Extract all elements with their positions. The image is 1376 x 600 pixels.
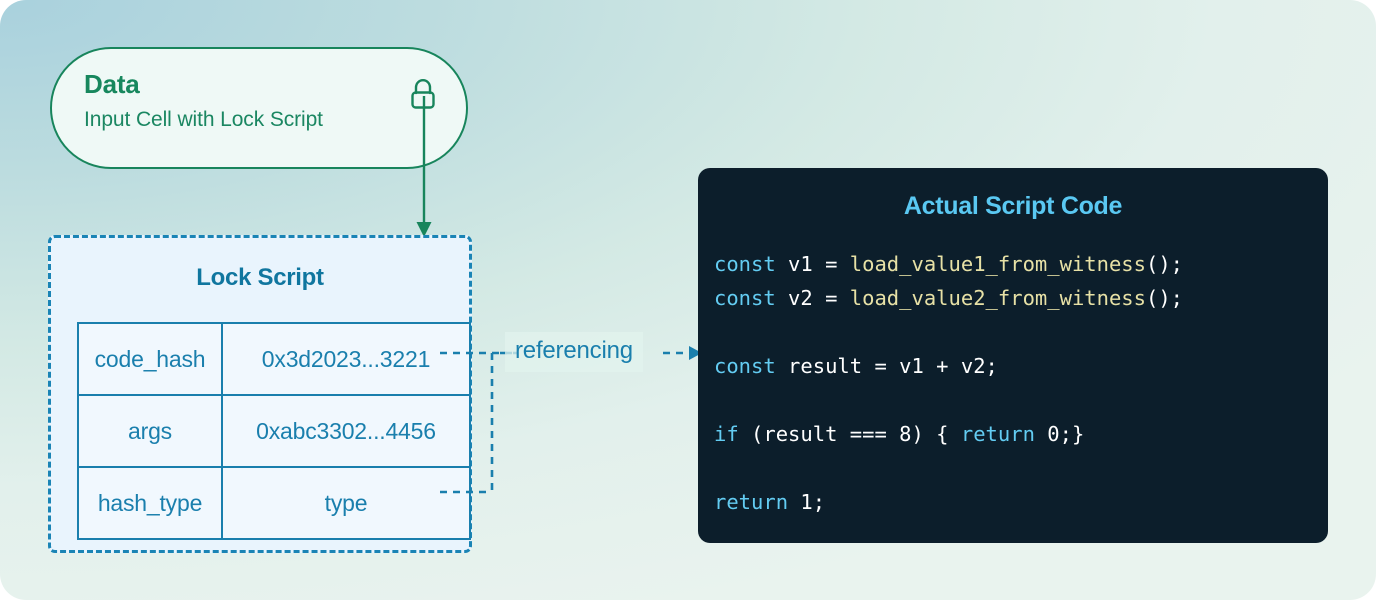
row-value-args: 0xabc3302...4456 [222,395,470,467]
code-token-pl: v2 = [776,286,850,310]
row-value-hash-type: type [222,467,470,539]
code-line [714,451,1318,485]
code-token-kw: const [714,252,776,276]
actual-script-code-panel[interactable]: Actual Script Code const v1 = load_value… [698,168,1328,543]
lock-script-title: Lock Script [51,264,469,292]
code-token-kw: const [714,286,776,310]
code-token-pl: (); [1146,286,1183,310]
code-token-pl: 1; [788,490,825,514]
row-key-hash-type: hash_type [78,467,222,539]
lock-icon [407,77,439,122]
code-token-kw: return [961,422,1035,446]
code-panel-title: Actual Script Code [698,192,1328,221]
row-key-code-hash: code_hash [78,323,222,395]
code-token-fn: load_value2_from_witness [850,286,1146,310]
lock-script-table: code_hash 0x3d2023...3221 args 0xabc3302… [77,322,471,540]
code-token-kw: if [714,422,739,446]
diagram-canvas: Data Input Cell with Lock Script Lock Sc… [0,0,1376,600]
code-line: const v1 = load_value1_from_witness(); [714,247,1318,281]
code-token-pl: (); [1146,252,1183,276]
data-cell-subtitle: Input Cell with Lock Script [84,108,323,132]
referencing-label: referencing [505,332,643,372]
table-row[interactable]: hash_type type [78,467,470,539]
code-line [714,383,1318,417]
table-row[interactable]: code_hash 0x3d2023...3221 [78,323,470,395]
code-line: return 1; [714,485,1318,519]
row-value-code-hash: 0x3d2023...3221 [222,323,470,395]
code-block: const v1 = load_value1_from_witness();co… [714,247,1318,519]
code-token-pl: 0;} [1035,422,1084,446]
lock-script-container[interactable]: Lock Script code_hash 0x3d2023...3221 ar… [48,235,472,553]
code-token-kw: return [714,490,788,514]
data-cell-title: Data [84,69,140,100]
code-line: if (result === 8) { return 0;} [714,417,1318,451]
code-line: const v2 = load_value2_from_witness(); [714,281,1318,315]
code-line [714,315,1318,349]
code-token-pl: v1 = [776,252,850,276]
row-key-args: args [78,395,222,467]
table-row[interactable]: args 0xabc3302...4456 [78,395,470,467]
code-token-pl: (result === 8) { [739,422,961,446]
data-input-cell[interactable]: Data Input Cell with Lock Script [50,47,468,169]
code-token-kw: const [714,354,776,378]
code-token-pl: result = v1 + v2; [776,354,998,378]
code-line: const result = v1 + v2; [714,349,1318,383]
code-token-fn: load_value1_from_witness [850,252,1146,276]
